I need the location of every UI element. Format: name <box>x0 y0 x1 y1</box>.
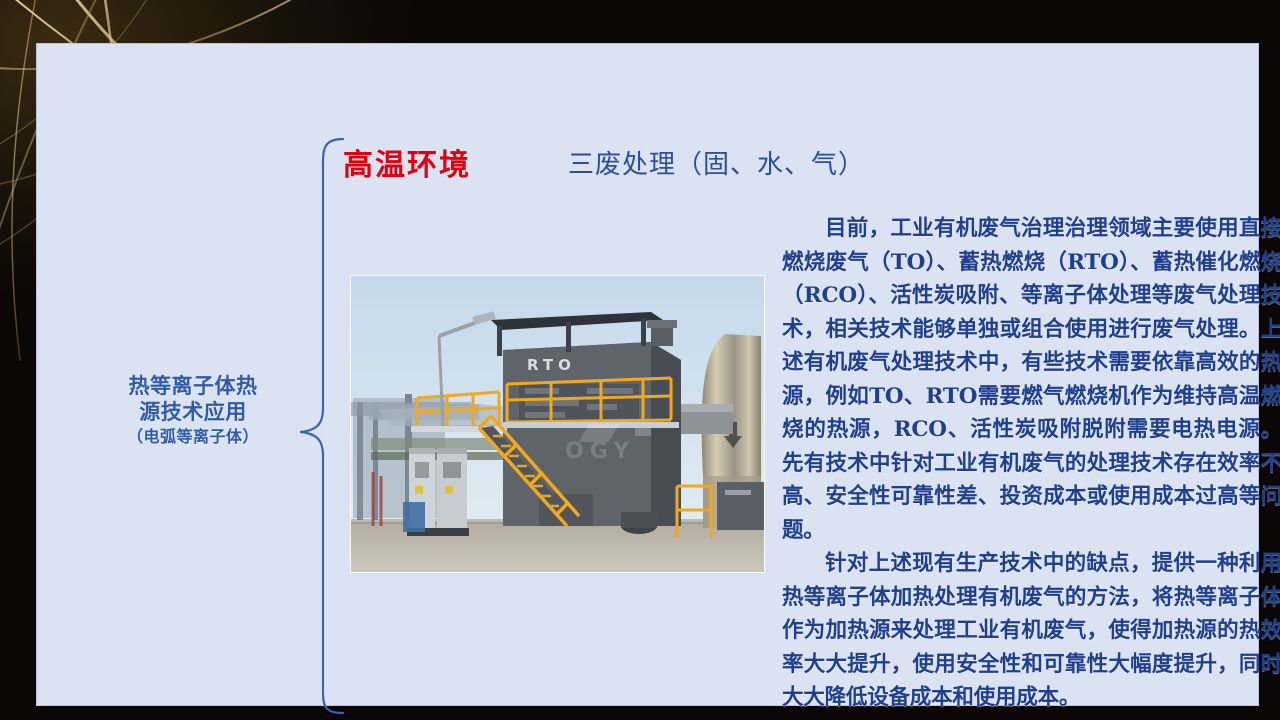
curly-brace <box>299 136 345 716</box>
left-caption: 热等离子体热 源技术应用 （电弧等离子体） <box>83 374 303 447</box>
page-title-red: 高温环境 <box>343 140 471 184</box>
svg-text:OGY: OGY <box>565 439 635 464</box>
body-paragraph-1: 目前，工业有机废气治理治理领域主要使用直接燃烧废气（TO）、蓄热燃烧（RTO）、… <box>782 212 1280 547</box>
slide-panel: 热等离子体热 源技术应用 （电弧等离子体） 高温环境 三废处理（固、水、气） <box>37 44 1258 705</box>
page-title-blue: 三废处理（固、水、气） <box>568 144 865 181</box>
left-caption-line3: （电弧等离子体） <box>83 427 303 447</box>
rto-plant-photo: RTO <box>351 276 764 572</box>
slide-stage: 热等离子体热 源技术应用 （电弧等离子体） 高温环境 三废处理（固、水、气） <box>0 0 1280 720</box>
svg-text:RTO: RTO <box>527 356 576 374</box>
left-caption-line1: 热等离子体热 <box>83 374 303 400</box>
body-text: 目前，工业有机废气治理治理领域主要使用直接燃烧废气（TO）、蓄热燃烧（RTO）、… <box>782 212 1280 715</box>
body-paragraph-2: 针对上述现有生产技术中的缺点，提供一种利用热等离子体加热处理有机废气的方法，将热… <box>782 547 1280 715</box>
left-caption-line2: 源技术应用 <box>83 400 303 426</box>
